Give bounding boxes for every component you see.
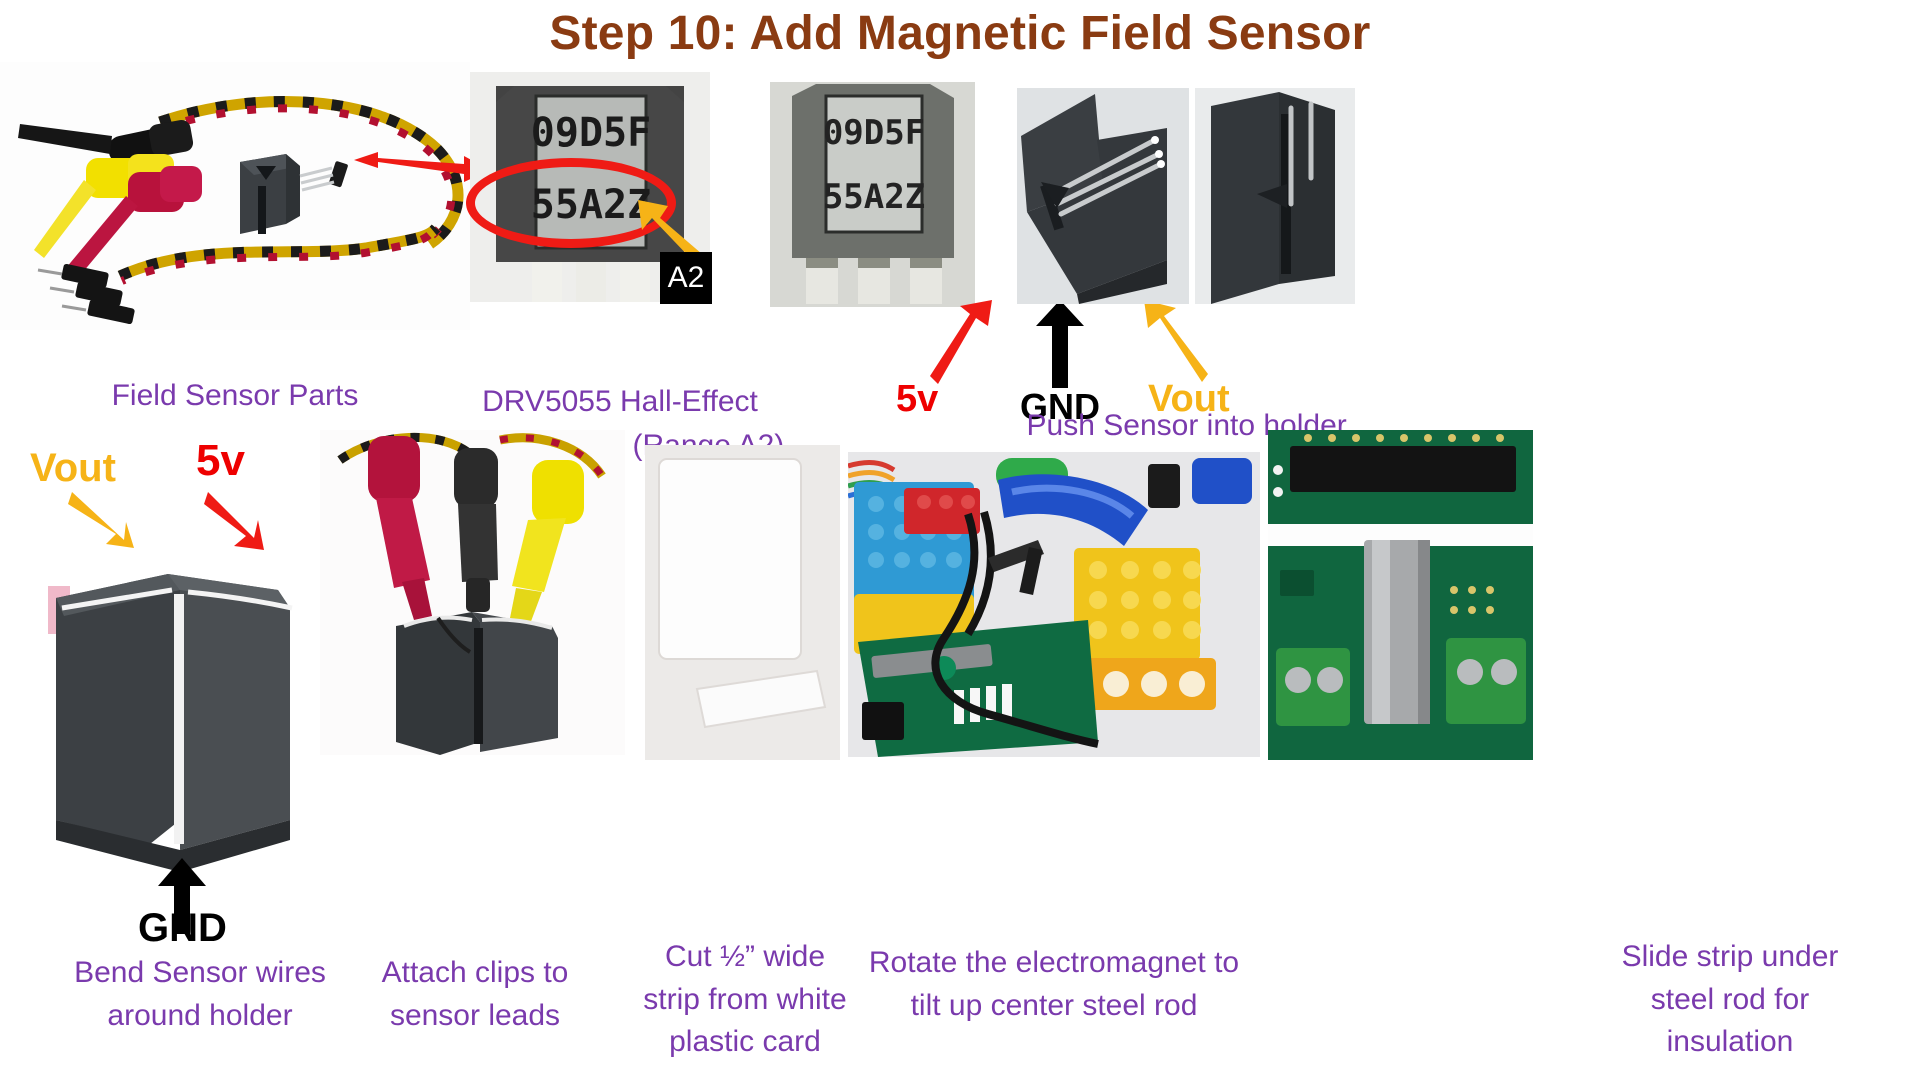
caption-card-line3: plastic card (640, 1021, 850, 1064)
arrow-bend-5v (204, 490, 268, 552)
caption-insulate-line3: insulation (1540, 1021, 1920, 1064)
caption-field-sensor-parts: Field Sensor Parts (20, 378, 450, 413)
arrow-bend-vout (68, 490, 138, 550)
caption-clips-line2: sensor leads (330, 995, 620, 1038)
arrow-pin-5v (930, 300, 1010, 390)
caption-card: Cut ½” wide strip from white plastic car… (640, 936, 850, 1064)
photo-plastic-card (645, 445, 840, 760)
caption-electromagnet-line1: Rotate the electromagnet to (840, 942, 1268, 985)
photo-chip-pinout: 09D5F 55A2Z (770, 82, 975, 307)
caption-electromagnet-line2: tilt up center steel rod (840, 985, 1268, 1028)
caption-card-line2: strip from white (640, 979, 850, 1022)
svg-text:09D5F: 09D5F (823, 113, 925, 153)
caption-clips-line1: Attach clips to (330, 952, 620, 995)
page-title: Step 10: Add Magnetic Field Sensor (0, 6, 1920, 61)
photo-sensor-in-holder-angle (1017, 88, 1189, 304)
caption-electromagnet: Rotate the electromagnet to tilt up cent… (840, 942, 1268, 1027)
badge-range-a2: A2 (660, 252, 712, 304)
caption-insulate-line1: Slide strip under (1540, 936, 1920, 979)
photo-sensor-in-holder-front (1195, 88, 1355, 304)
photo-electromagnet-lego (848, 452, 1260, 757)
label-bend-gnd: GND (138, 906, 227, 951)
svg-text:09D5F: 09D5F (531, 110, 651, 156)
caption-clips: Attach clips to sensor leads (330, 952, 620, 1037)
photo-slide-strip (1268, 430, 1533, 760)
label-bend-vout: Vout (30, 446, 116, 491)
svg-text:55A2Z: 55A2Z (823, 177, 925, 217)
arrow-pin-vout (1120, 300, 1210, 390)
label-pin-5v: 5v (896, 378, 938, 421)
caption-drv5055-line1: DRV5055 Hall-Effect (440, 380, 800, 424)
photo-attach-clips (320, 430, 625, 755)
caption-insulate: Slide strip under steel rod for insulati… (1540, 936, 1920, 1064)
caption-insulate-line2: steel rod for (1540, 979, 1920, 1022)
arrow-pin-gnd (1030, 300, 1090, 390)
label-bend-5v: 5v (196, 436, 245, 486)
caption-card-line1: Cut ½” wide (640, 936, 850, 979)
